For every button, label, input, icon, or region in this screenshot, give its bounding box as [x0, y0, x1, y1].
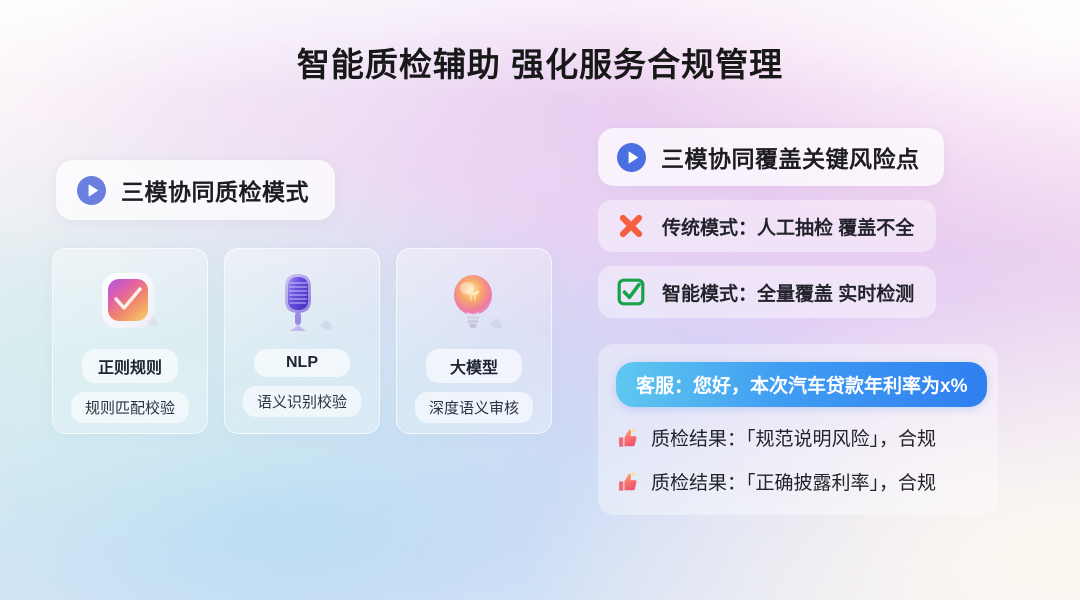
mode-card-nlp[interactable]: NLP 语义识别校验: [224, 248, 380, 434]
qc-result-row: 质检结果：「规范说明风险」，合规: [616, 424, 980, 451]
state-row-text: 智能模式：全量覆盖 实时检测: [662, 279, 914, 306]
page-title: 智能质检辅助 强化服务合规管理: [0, 38, 1080, 86]
right-column: 三模协同覆盖关键风险点 传统模式：人工抽检 覆盖不全 智能模式：全量覆盖 实时检…: [598, 128, 998, 515]
mode-card-name: 大模型: [426, 349, 522, 383]
transcript-panel: 客服：您好，本次汽车贷款年利率为x% 质检结果：「规范说明风险」，合规: [598, 344, 998, 515]
microphone-icon: [268, 268, 336, 336]
mode-card-regex[interactable]: 正则规则 规则匹配校验: [52, 248, 208, 434]
play-circle-icon: [616, 142, 647, 173]
qc-result-row: 质检结果：「正确披露利率」，合规: [616, 468, 980, 495]
quality-mode-card-list: 正则规则 规则匹配校验: [52, 248, 552, 434]
cross-icon: [616, 211, 646, 241]
check-square-gradient-icon: [96, 268, 164, 336]
mode-card-large-model[interactable]: 大模型 深度语义审核: [396, 248, 552, 434]
left-section-header-label: 三模协同质检模式: [121, 173, 309, 207]
lightbulb-icon: [440, 268, 508, 336]
thumbs-up-icon: [616, 470, 640, 494]
right-section-header-label: 三模协同覆盖关键风险点: [661, 140, 920, 174]
state-row-text: 传统模式：人工抽检 覆盖不全: [662, 213, 914, 240]
right-section-header: 三模协同覆盖关键风险点: [598, 128, 944, 186]
left-section-header: 三模协同质检模式: [56, 160, 335, 220]
play-circle-icon: [76, 175, 107, 206]
mode-card-desc: 规则匹配校验: [71, 392, 189, 423]
qc-result-text: 质检结果：「规范说明风险」，合规: [651, 424, 936, 451]
card-icon-wrapper: [268, 263, 336, 341]
mode-card-name: NLP: [254, 349, 350, 377]
check-box-icon: [616, 277, 646, 307]
thumbs-up-icon: [616, 426, 640, 450]
mode-card-name: 正则规则: [82, 349, 178, 383]
mode-card-desc: 语义识别校验: [243, 386, 361, 417]
card-icon-wrapper: [96, 263, 164, 341]
mode-card-desc: 深度语义审核: [415, 392, 533, 423]
state-row-traditional: 传统模式：人工抽检 覆盖不全: [598, 200, 936, 252]
card-icon-wrapper: [440, 263, 508, 341]
qc-result-text: 质检结果：「正确披露利率」，合规: [651, 468, 936, 495]
chat-bubble-agent: 客服：您好，本次汽车贷款年利率为x%: [616, 362, 987, 407]
state-row-smart: 智能模式：全量覆盖 实时检测: [598, 266, 936, 318]
infographic-canvas: 智能质检辅助 强化服务合规管理 三模协同质检模式: [0, 0, 1080, 600]
